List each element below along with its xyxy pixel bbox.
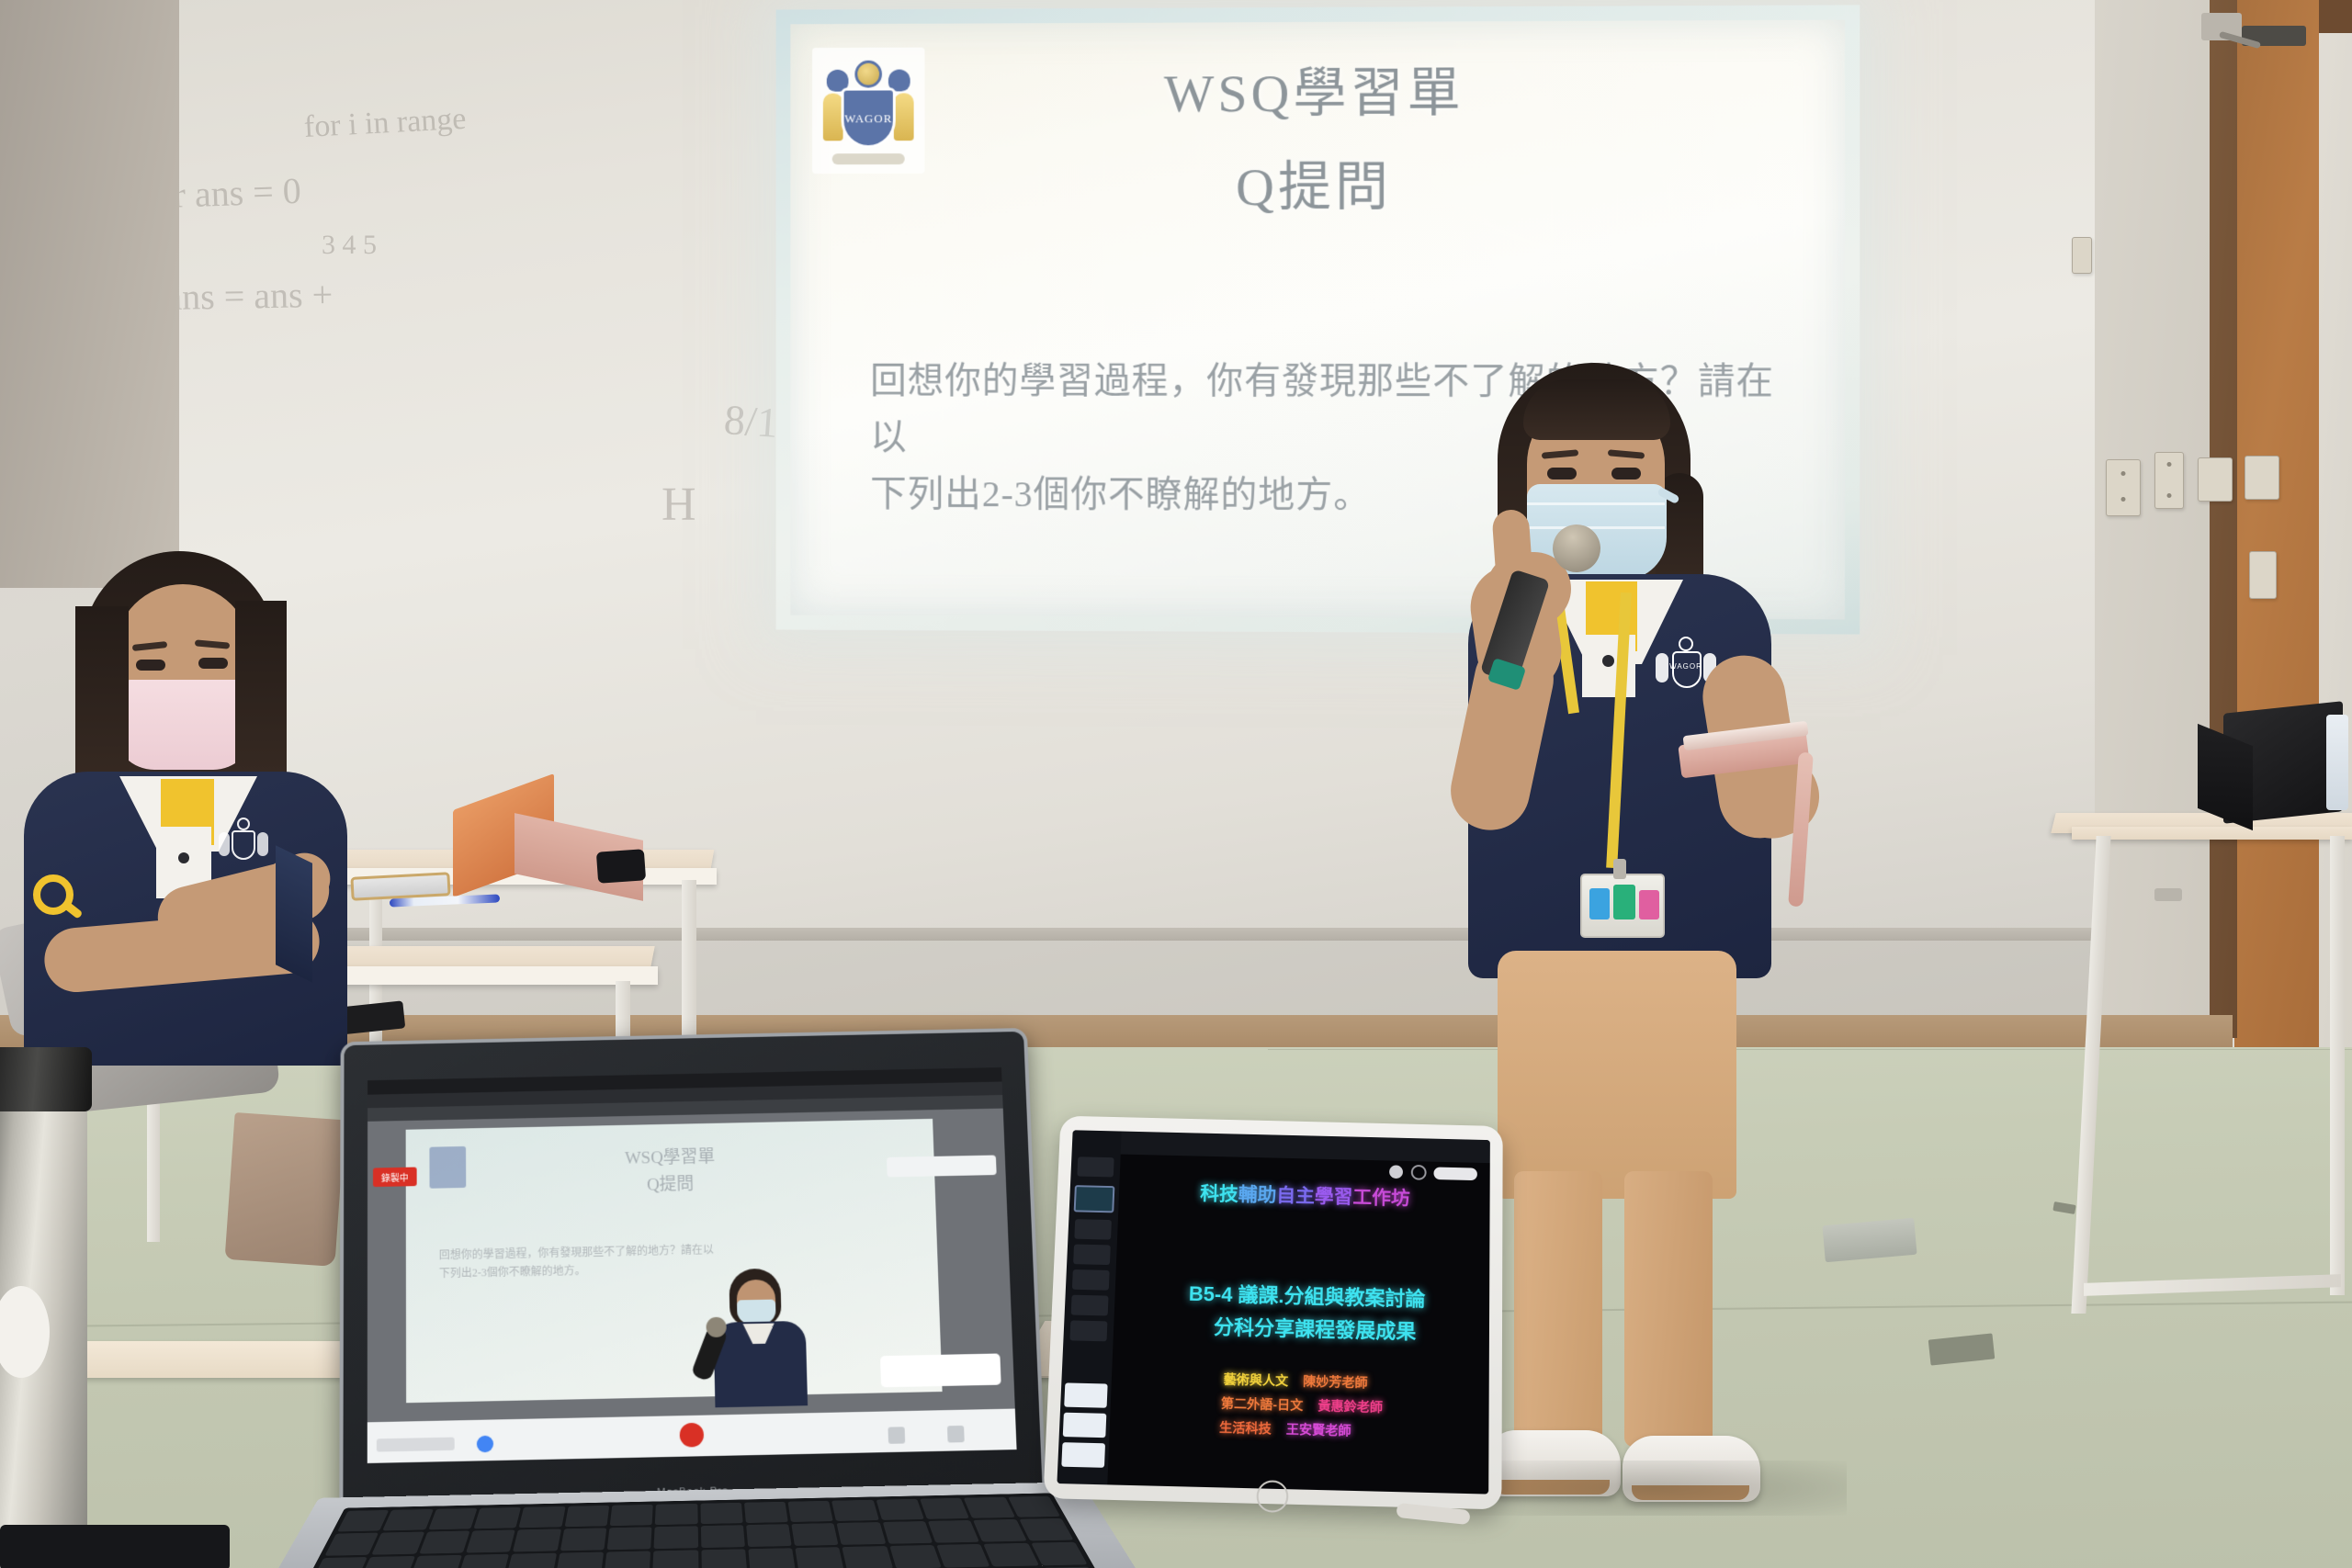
recording-badge: 錄製中: [373, 1168, 417, 1188]
wall-sensor: [2072, 237, 2092, 274]
light-switch-plate-2[interactable]: [2245, 456, 2279, 500]
trouser-leg-left: [1514, 1171, 1602, 1447]
slide-title: WSQ學習單: [790, 20, 1845, 129]
whiteboard-note: ans = ans +: [165, 273, 334, 319]
laptop-screen[interactable]: WSQ學習單 Q提問 回想你的學習過程，你有發現那些不了解的地方？請在以 下列出…: [367, 1067, 1017, 1463]
shared-slide-body: 回想你的學習過程，你有發現那些不了解的地方？請在以 下列出2-3個你不瞭解的地方…: [439, 1236, 898, 1283]
presenter-in-video: [708, 1268, 813, 1405]
laptop-keyboard[interactable]: [289, 1493, 1111, 1568]
info-icon[interactable]: [477, 1436, 493, 1453]
tablet-app-topbar: [1121, 1132, 1490, 1164]
meet-stage: WSQ學習單 Q提問 回想你的學習過程，你有發現那些不了解的地方？請在以 下列出…: [367, 1109, 1015, 1423]
id-badge: [1580, 874, 1665, 938]
polo-button: [1602, 655, 1614, 667]
tablet-help-icon[interactable]: [1411, 1165, 1427, 1180]
wagor-crest-icon: WAGOR: [812, 48, 924, 175]
camera-toggle-icon[interactable]: [947, 1426, 965, 1443]
tablet-row-2: 第二外語-日文 黃惠鈴老師: [1221, 1394, 1384, 1417]
eye-left: [136, 660, 165, 671]
trousers-hip: [1498, 951, 1736, 1199]
slide-thumbnail-sidebar[interactable]: [1057, 1130, 1121, 1484]
slide-subtitle: Q提問: [790, 142, 1845, 221]
meeting-code: [377, 1438, 455, 1452]
polo-crest-icon: [219, 818, 268, 873]
hanging-cloth: [225, 1112, 345, 1267]
network-jack-plate[interactable]: [2106, 459, 2141, 516]
foreground-device[interactable]: [0, 1525, 230, 1568]
tablet-screen[interactable]: 科技輔助自主學習工作坊 B5-4 議課.分組與教案討論 分科分享課程發展成果 藝…: [1057, 1130, 1489, 1494]
mask-pleat: [1527, 502, 1665, 505]
mic-toggle-icon[interactable]: [888, 1427, 905, 1444]
power-outlet-plate[interactable]: [2154, 452, 2184, 509]
hangup-button[interactable]: [680, 1423, 705, 1448]
right-table-edge: [2072, 827, 2352, 840]
tablet-row-1: 藝術與人文 陳妙芳老師: [1223, 1371, 1367, 1393]
seated-participant: [18, 551, 367, 1066]
cable-clip: [2154, 888, 2182, 901]
presenter-shadow: [1461, 1461, 1847, 1516]
participant-name-chip: [880, 1353, 1001, 1387]
face-mask: [114, 680, 254, 770]
tablet-slide-line2: 分科分享課程發展成果: [1214, 1311, 1417, 1345]
hair-fringe: [1523, 379, 1670, 440]
laptop[interactable]: WSQ學習單 Q提問 回想你的學習過程，你有發現那些不了解的地方？請在以 下列出…: [339, 1027, 1096, 1568]
tablet-pill-button[interactable]: [1433, 1167, 1476, 1180]
eye-right: [198, 658, 228, 669]
mask-pleat: [1527, 526, 1665, 529]
white-bottle[interactable]: [2326, 715, 2348, 810]
eye-left: [1547, 468, 1577, 479]
right-table-leg: [2330, 836, 2345, 1295]
tablet-row-3: 生活科技 王安賢老師: [1219, 1418, 1351, 1440]
whiteboard-note: H: [661, 478, 696, 532]
tablet-more-icon[interactable]: [1389, 1165, 1403, 1179]
thermos-lid[interactable]: [0, 1047, 92, 1111]
whiteboard-note: 3 4 5: [322, 230, 377, 261]
door-frame: [2210, 0, 2237, 1038]
tablet-device[interactable]: 科技輔助自主學習工作坊 B5-4 議課.分組與教案討論 分科分享課程發展成果 藝…: [1043, 1116, 1502, 1510]
seated-tablet-edge: [276, 845, 312, 983]
badge-clip: [1613, 859, 1626, 879]
classroom-door[interactable]: [2234, 0, 2319, 1056]
trouser-leg-right: [1624, 1171, 1713, 1447]
polo-button: [178, 852, 189, 863]
whiteboard-note: for i in range: [303, 102, 467, 145]
self-view-tile[interactable]: [887, 1156, 997, 1178]
crest-wordmark: WAGOR: [812, 111, 924, 126]
black-watch[interactable]: [596, 849, 646, 884]
laptop-lid: WSQ學習單 Q提問 回想你的學習過程，你有發現那些不了解的地方？請在以 下列出…: [339, 1028, 1046, 1517]
left-wall-shadow: [0, 0, 179, 588]
shared-slide-thumbnail: WSQ學習單 Q提問 回想你的學習過程，你有發現那些不了解的地方？請在以 下列出…: [406, 1119, 943, 1403]
photo-scene: var ans = 0 for i in range 3 4 5 ans = a…: [0, 0, 2352, 1568]
eye-right: [1611, 468, 1641, 479]
label-plate: [2249, 551, 2277, 599]
light-switch-plate[interactable]: [2198, 457, 2233, 502]
tablet-slide-line1: B5-4 議課.分組與教案討論: [1188, 1278, 1425, 1313]
tablet-slide-header: 科技輔助自主學習工作坊: [1200, 1179, 1410, 1212]
